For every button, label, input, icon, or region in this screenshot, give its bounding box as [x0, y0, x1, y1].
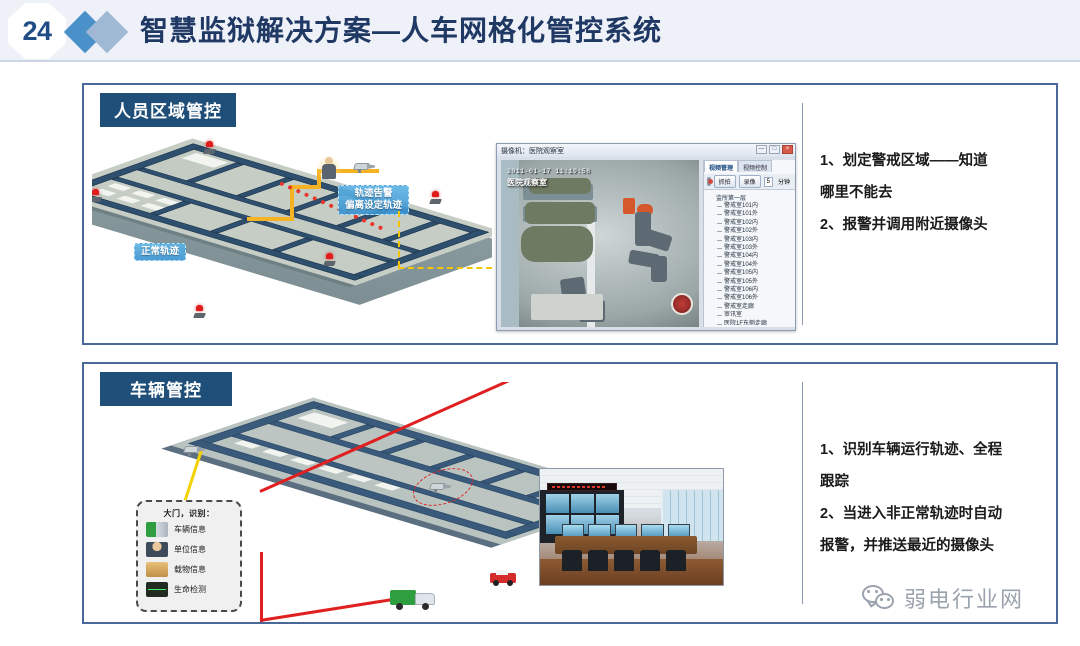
camera-record-icon[interactable] — [707, 177, 711, 186]
panel-divider — [802, 103, 803, 325]
minimize-icon[interactable]: — — [756, 145, 767, 154]
personnel-bullets: 1、划定警戒区域——知道 哪里不能去 2、报警并调用附近摄像头 — [820, 145, 1046, 241]
camera-tree-node[interactable]: 警戒室102外 — [706, 227, 796, 235]
camera-icon — [430, 481, 452, 493]
alarm-beacon-icon — [324, 253, 335, 266]
bullet-line: 1、划定警戒区域——知道 — [820, 145, 1046, 177]
camera-tree-node[interactable]: 医院1F东侧走廊 — [706, 320, 796, 325]
camera-tree-node[interactable]: 警戒室106内 — [706, 286, 796, 294]
truck-icon — [390, 588, 438, 610]
camera-tree-node[interactable]: 警戒室104内 — [706, 252, 796, 260]
watermark-text: 弱电行业网 — [904, 582, 1024, 614]
person-icon — [146, 542, 168, 557]
cctv-window-title: 摄像机：医院观察室 — [497, 144, 795, 157]
cctv-tabs[interactable]: 视频管理 视频控制 — [704, 160, 795, 172]
bullet-line: 2、当进入非正常轨迹时自动 — [820, 498, 1046, 530]
cctv-side-panel: 视频管理 视频控制 抓拍 录像 5 分钟 监所第一层 警戒室101内 警戒室10… — [703, 160, 795, 327]
camera-tree-node[interactable]: 警戒室走廊 — [706, 303, 796, 311]
alarm-beacon-icon — [430, 191, 441, 204]
callout-connector — [398, 211, 492, 277]
normal-trajectory-path-seg5 — [247, 217, 294, 221]
window-controls[interactable]: — □ × — [756, 145, 793, 154]
cctv-client-window[interactable]: 摄像机：医院观察室 — □ × 2011-01-17 11:19:5 — [496, 143, 796, 331]
trajectory-alarm-tag-line2: 偏离设定轨迹 — [345, 200, 402, 212]
video-location-overlay: 医院观察室 — [507, 177, 547, 188]
cargo-icon — [146, 562, 168, 577]
vehicle-trajectory-seg2 — [260, 598, 391, 622]
close-icon[interactable]: × — [782, 145, 793, 154]
camera-tree-root[interactable]: 监所第一层 — [706, 193, 796, 202]
trajectory-alarm-tag-line1: 轨迹告警 — [345, 188, 402, 200]
cctv-toolbar[interactable]: 抓拍 录像 5 分钟 — [704, 174, 795, 190]
control-room-photo — [539, 468, 724, 586]
camera-tree-node[interactable]: 警戒室101内 — [706, 202, 796, 210]
vehicle-bullets: 1、识别车辆运行轨迹、全程 跟踪 2、当进入非正常轨迹时自动 报警，并推送最近的… — [820, 434, 1046, 562]
video-timestamp-overlay: 2011-01-17 11:19:58 — [507, 168, 591, 175]
slide-number-text: 24 — [8, 3, 66, 59]
tab-video-control[interactable]: 视频控制 — [738, 160, 772, 172]
gate-recognition-legend: 大门，识别： 车辆信息 单位信息 载物信息 生命检测 — [136, 500, 242, 612]
camera-icon — [354, 161, 376, 173]
person-figure-icon — [321, 157, 337, 179]
alarm-beacon-icon — [194, 305, 205, 318]
alarm-beacon-icon — [204, 141, 215, 154]
watermark: 弱电行业网 — [862, 578, 1062, 618]
maximize-icon[interactable]: □ — [769, 145, 780, 154]
camera-tree-node[interactable]: 警戒室101外 — [706, 210, 796, 218]
bullet-line: 报警，并推送最近的摄像头 — [820, 530, 1046, 562]
legend-item: 车辆信息 — [138, 519, 240, 539]
bullet-line: 2、报警并调用附近摄像头 — [820, 209, 1046, 241]
camera-tree[interactable]: 监所第一层 警戒室101内 警戒室101外 警戒室102内 警戒室102外 警戒… — [706, 193, 796, 325]
camera-tree-node[interactable]: 警戒室103内 — [706, 236, 796, 244]
legend-item: 载物信息 — [138, 559, 240, 579]
legend-item: 生命检测 — [138, 579, 240, 599]
wechat-icon — [862, 585, 896, 611]
normal-trajectory-tag-line1: 正常轨迹 — [141, 246, 179, 258]
monitor-icon — [146, 582, 168, 597]
legend-item: 单位信息 — [138, 539, 240, 559]
diamond-decoration — [70, 16, 132, 48]
video-feed[interactable]: 2011-01-17 11:19:58 医院观察室 — [501, 160, 699, 327]
snapshot-button[interactable]: 抓拍 — [714, 175, 736, 188]
record-button[interactable]: 录像 — [739, 175, 761, 188]
legend-item-label: 单位信息 — [174, 544, 206, 555]
bullet-line: 1、识别车辆运行轨迹、全程 — [820, 434, 1046, 466]
fire-truck-icon — [490, 570, 516, 586]
legend-item-label: 生命检测 — [174, 584, 206, 595]
slide-number-badge: 24 — [8, 3, 66, 59]
camera-tree-node[interactable]: 警戒室103外 — [706, 244, 796, 252]
duration-select[interactable]: 5 — [764, 177, 773, 187]
slide-header: 24 智慧监狱解决方案—人车网格化管控系统 — [0, 0, 1080, 62]
camera-tree-node[interactable]: 审讯室 — [706, 311, 796, 319]
camera-icon — [184, 444, 206, 456]
camera-tree-node[interactable]: 警戒室104外 — [706, 261, 796, 269]
bullet-line: 哪里不能去 — [820, 177, 1046, 209]
legend-title: 大门，识别： — [138, 502, 240, 519]
camera-tree-node[interactable]: 警戒室105内 — [706, 269, 796, 277]
panel-divider — [802, 382, 803, 604]
legend-item-label: 车辆信息 — [174, 524, 206, 535]
camera-tree-node[interactable]: 警戒室106外 — [706, 294, 796, 302]
camera-tree-node[interactable]: 警戒室102内 — [706, 219, 796, 227]
floorplan-3d-vehicle: 大门，识别： 车辆信息 单位信息 载物信息 生命检测 — [92, 382, 562, 622]
alarm-beacon-icon — [92, 189, 101, 202]
floorplan-3d-personnel: 轨迹告警 偏离设定轨迹 正常轨迹 — [92, 113, 492, 341]
tab-video-management[interactable]: 视频管理 — [704, 160, 738, 172]
legend-item-label: 载物信息 — [174, 564, 206, 575]
bullet-line: 跟踪 — [820, 466, 1046, 498]
panel-personnel-area-control: 人员区域管控 — [82, 83, 1058, 345]
vehicle-trajectory-seg1 — [260, 552, 263, 622]
duration-unit-label: 分钟 — [776, 176, 792, 187]
normal-trajectory-tag: 正常轨迹 — [134, 243, 186, 261]
wall-emblem — [671, 293, 693, 315]
camera-tree-node[interactable]: 警戒室105外 — [706, 278, 796, 286]
page-title: 智慧监狱解决方案—人车网格化管控系统 — [140, 8, 662, 54]
truck-icon — [146, 522, 168, 537]
